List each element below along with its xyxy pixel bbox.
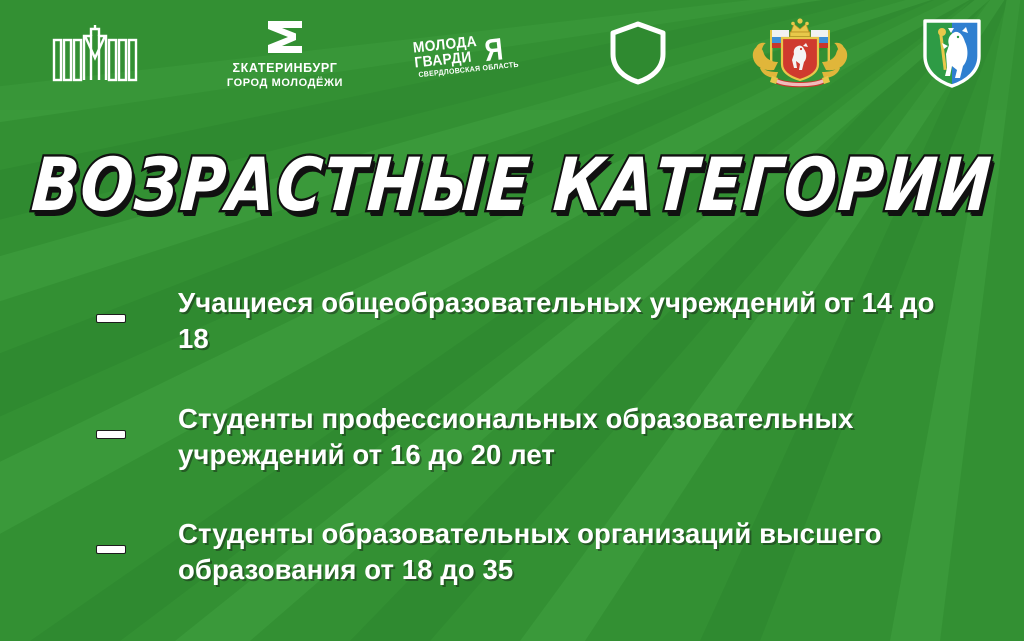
sigma-e-mark-icon xyxy=(266,21,304,57)
page-title: ВОЗРАСТНЫЕ КАТЕГОРИИ xyxy=(0,148,1024,221)
list-item-label: Студенты профессиональных образовательны… xyxy=(178,401,956,474)
shield-icon xyxy=(610,21,666,90)
fence-m-emblem-icon xyxy=(52,24,138,87)
ekaterinburg-logo-line1: ΣКАТЕРИНБУРГ xyxy=(233,62,338,75)
ministry-of-culture-emblem xyxy=(0,0,190,110)
dash-bullet-icon xyxy=(96,314,126,323)
list-item-label: Студенты образовательных организаций выс… xyxy=(178,516,956,589)
coat-of-arms-icon xyxy=(921,16,983,95)
list-item: Учащиеся общеобразовательных учреждений … xyxy=(96,285,956,358)
list-item-label: Учащиеся общеобразовательных учреждений … xyxy=(178,285,956,358)
dash-bullet-icon xyxy=(96,430,126,439)
age-categories-list: Учащиеся общеобразовательных учреждений … xyxy=(96,285,956,632)
sverdlovsk-oblast-coat-of-arms xyxy=(720,0,880,110)
ekaterinburg-city-logo: ΣКАТЕРИНБУРГ ГОРОД МОЛОДЁЖИ xyxy=(190,0,380,110)
logo-bar: ΣКАТЕРИНБУРГ ГОРОД МОЛОДЁЖИ МОЛОДА ГВАРД… xyxy=(0,0,1024,110)
shield-emblem xyxy=(555,0,720,110)
molodaya-gvardiya-logo: МОЛОДА ГВАРДИ Я СВЕРДЛОВСКАЯ ОБЛАСТЬ xyxy=(380,0,555,110)
mg-big-letter-ya: Я xyxy=(483,36,504,63)
list-item: Студенты профессиональных образовательны… xyxy=(96,401,956,474)
slide-root: ΣКАТЕРИНБУРГ ГОРОД МОЛОДЁЖИ МОЛОДА ГВАРД… xyxy=(0,0,1024,641)
list-item: Студенты образовательных организаций выс… xyxy=(96,516,956,589)
coat-of-arms-icon xyxy=(748,16,852,95)
page-title-text: ВОЗРАСТНЫЕ КАТЕГОРИИ xyxy=(29,141,995,227)
ekaterinburg-logo-line2: ГОРОД МОЛОДЁЖИ xyxy=(227,78,343,89)
ekaterinburg-coat-of-arms xyxy=(880,0,1024,110)
dash-bullet-icon xyxy=(96,545,126,554)
